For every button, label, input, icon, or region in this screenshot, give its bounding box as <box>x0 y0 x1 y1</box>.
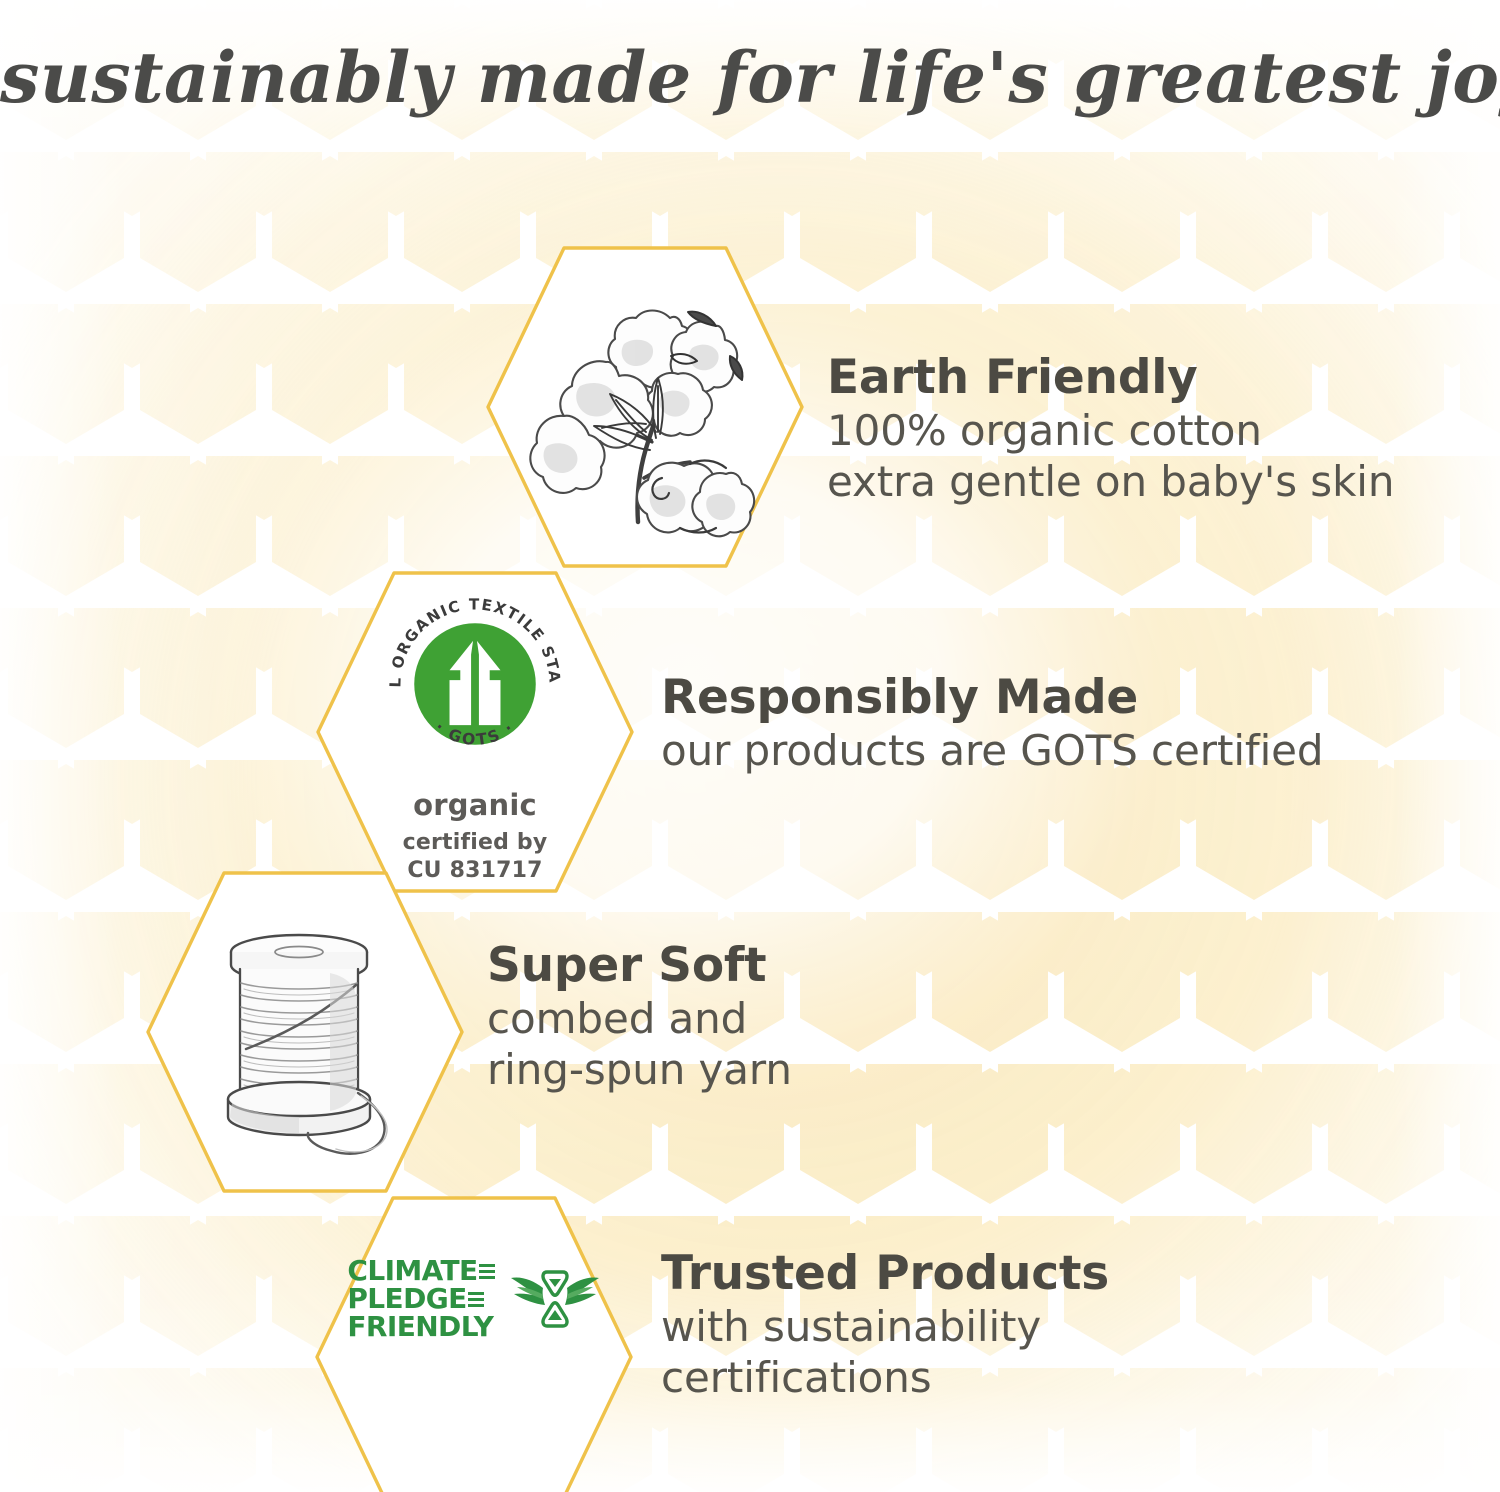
feature-text-earth-friendly: Earth Friendly 100% organic cotton extra… <box>827 352 1394 507</box>
gots-seal-icon: GLOBAL ORGANIC TEXTILE STANDARD · GOTS · <box>377 586 573 782</box>
feature-line: ring-spun yarn <box>487 1044 792 1095</box>
hex-card-trusted-products: CLIMATE PLEDGE FRIENDLY <box>312 1193 636 1492</box>
cotton-plant-illustration <box>520 282 770 532</box>
feature-line: with sustainability <box>661 1301 1109 1352</box>
gots-certified-by-label: certified by <box>403 829 548 857</box>
feature-text-trusted-products: Trusted Products with sustainability cer… <box>661 1248 1109 1403</box>
feature-line: our products are GOTS certified <box>661 725 1323 776</box>
cpf-word-pledge: PLEDGE <box>347 1285 466 1313</box>
feature-title: Earth Friendly <box>827 352 1394 405</box>
climate-pledge-friendly-logo: CLIMATE PLEDGE FRIENDLY <box>312 1257 636 1341</box>
cpf-bars-icon <box>468 1292 484 1307</box>
headline-text: sustainably made for life's greatest joy <box>0 36 1500 119</box>
cpf-wordmark: CLIMATE PLEDGE FRIENDLY <box>347 1257 494 1341</box>
feature-line: extra gentle on baby's skin <box>827 456 1394 507</box>
feature-text-responsibly-made: Responsibly Made our products are GOTS c… <box>661 672 1323 776</box>
hex-card-earth-friendly <box>483 243 807 571</box>
gots-certification-logo: GLOBAL ORGANIC TEXTILE STANDARD · GOTS ·… <box>313 568 637 896</box>
hex-card-responsibly-made: GLOBAL ORGANIC TEXTILE STANDARD · GOTS ·… <box>313 568 637 896</box>
hex-card-super-soft <box>143 868 467 1196</box>
feature-title: Super Soft <box>487 940 792 993</box>
winged-hourglass-icon <box>509 1264 601 1334</box>
feature-line: 100% organic cotton <box>827 405 1394 456</box>
infographic-canvas: sustainably made for life's greatest joy… <box>0 0 1500 1492</box>
cpf-word-friendly: FRIENDLY <box>347 1313 493 1341</box>
feature-title: Trusted Products <box>661 1248 1109 1301</box>
feature-text-super-soft: Super Soft combed and ring-spun yarn <box>487 940 792 1095</box>
feature-title: Responsibly Made <box>661 672 1323 725</box>
cpf-bars-icon <box>479 1264 495 1279</box>
gots-organic-label: organic <box>413 788 537 822</box>
cpf-word-climate: CLIMATE <box>347 1257 477 1285</box>
thread-spool-illustration <box>180 907 430 1157</box>
feature-line: combed and <box>487 993 792 1044</box>
page-headline: sustainably made for life's greatest joy… <box>0 36 1500 119</box>
feature-line: certifications <box>661 1352 1109 1403</box>
